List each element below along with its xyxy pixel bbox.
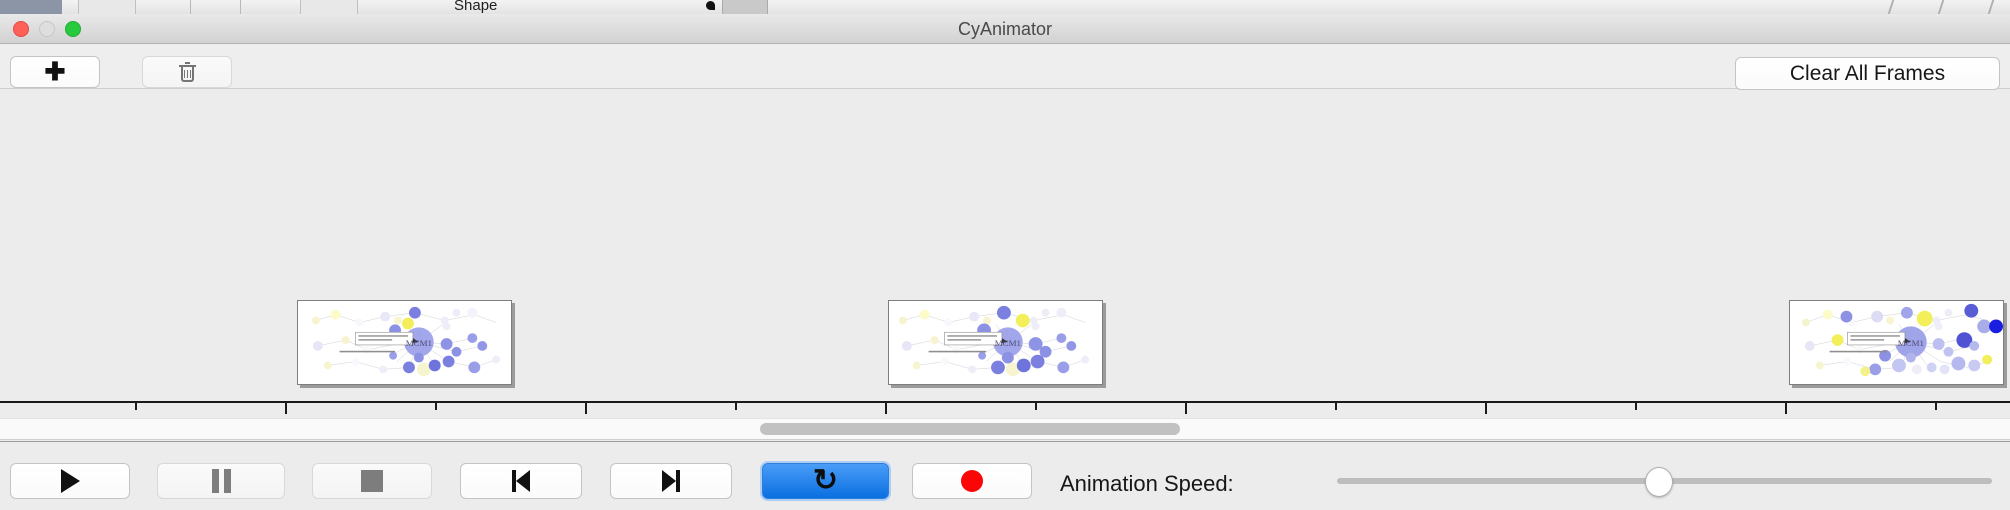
record-button[interactable]: [912, 463, 1032, 499]
timeline-scrollbar-thumb[interactable]: [760, 423, 1180, 435]
background-box: [78, 0, 136, 14]
delete-frame-button[interactable]: [142, 56, 232, 88]
add-frame-button[interactable]: ✚: [10, 56, 100, 88]
clear-all-frames-button[interactable]: Clear All Frames: [1735, 57, 2000, 90]
timeline-panel[interactable]: MCM1: [0, 90, 2010, 414]
background-box: [300, 0, 358, 14]
timeline-frame-thumbnail[interactable]: MCM1: [297, 300, 512, 385]
skip-to-end-icon: [662, 470, 680, 492]
svg-text:MCM1: MCM1: [995, 338, 1021, 348]
background-slash: [1938, 0, 1955, 14]
play-icon: [61, 469, 80, 493]
timeline-frame-thumbnail[interactable]: MCM1: [888, 300, 1103, 385]
stop-button[interactable]: [312, 463, 432, 499]
axis-tick-major: [1485, 403, 1487, 414]
axis-tick-major: [1785, 403, 1787, 414]
skip-to-end-button[interactable]: [610, 463, 732, 499]
toolbar: [0, 45, 2010, 89]
axis-tick-minor: [735, 403, 737, 410]
title-bar: CyAnimator: [0, 14, 2010, 44]
background-swatch: [722, 0, 768, 14]
window-title: CyAnimator: [0, 14, 2010, 44]
stop-icon: [361, 470, 383, 492]
background-slash: [1888, 0, 1905, 14]
clear-all-frames-label: Clear All Frames: [1790, 62, 1945, 86]
axis-tick-minor: [435, 403, 437, 410]
plus-icon: ✚: [45, 60, 66, 85]
axis-tick-minor: [1635, 403, 1637, 410]
axis-tick-major: [1185, 403, 1187, 414]
record-icon: [961, 470, 983, 492]
animation-speed-label: Animation Speed:: [1060, 471, 1234, 497]
background-marker-icon: [706, 1, 715, 10]
svg-text:MCM1: MCM1: [406, 338, 432, 348]
network-graph-icon: MCM1: [1790, 301, 2003, 384]
play-button[interactable]: [10, 463, 130, 499]
timeline-axis: [0, 401, 2010, 403]
svg-text:MCM1: MCM1: [1898, 338, 1924, 348]
axis-tick-minor: [135, 403, 137, 410]
background-window-strip: Shape: [0, 0, 2010, 14]
axis-tick-major: [885, 403, 887, 414]
network-graph-icon: MCM1: [298, 301, 511, 384]
pause-button[interactable]: [157, 463, 285, 499]
background-shape-label: Shape: [454, 0, 497, 14]
loop-button[interactable]: ↻: [762, 463, 889, 499]
network-graph-icon: MCM1: [889, 301, 1102, 384]
loop-icon: ↻: [813, 466, 838, 496]
axis-tick-minor: [1335, 403, 1337, 410]
timeline-frame-thumbnail[interactable]: MCM1: [1789, 300, 2004, 385]
trash-icon: [179, 62, 196, 82]
axis-tick-major: [585, 403, 587, 414]
axis-tick-major: [285, 403, 287, 414]
skip-to-start-icon: [512, 470, 530, 492]
animation-speed-slider-thumb[interactable]: [1645, 467, 1673, 497]
skip-to-start-button[interactable]: [460, 463, 582, 499]
pause-icon: [212, 469, 231, 493]
background-divider: [190, 0, 191, 14]
background-tab: [0, 0, 62, 14]
axis-tick-minor: [1935, 403, 1937, 410]
background-slash: [1988, 0, 2005, 14]
axis-tick-minor: [1035, 403, 1037, 410]
background-divider: [240, 0, 241, 14]
cyanimator-window: Shape CyAnimator ✚ Clear All Frames: [0, 0, 2010, 510]
